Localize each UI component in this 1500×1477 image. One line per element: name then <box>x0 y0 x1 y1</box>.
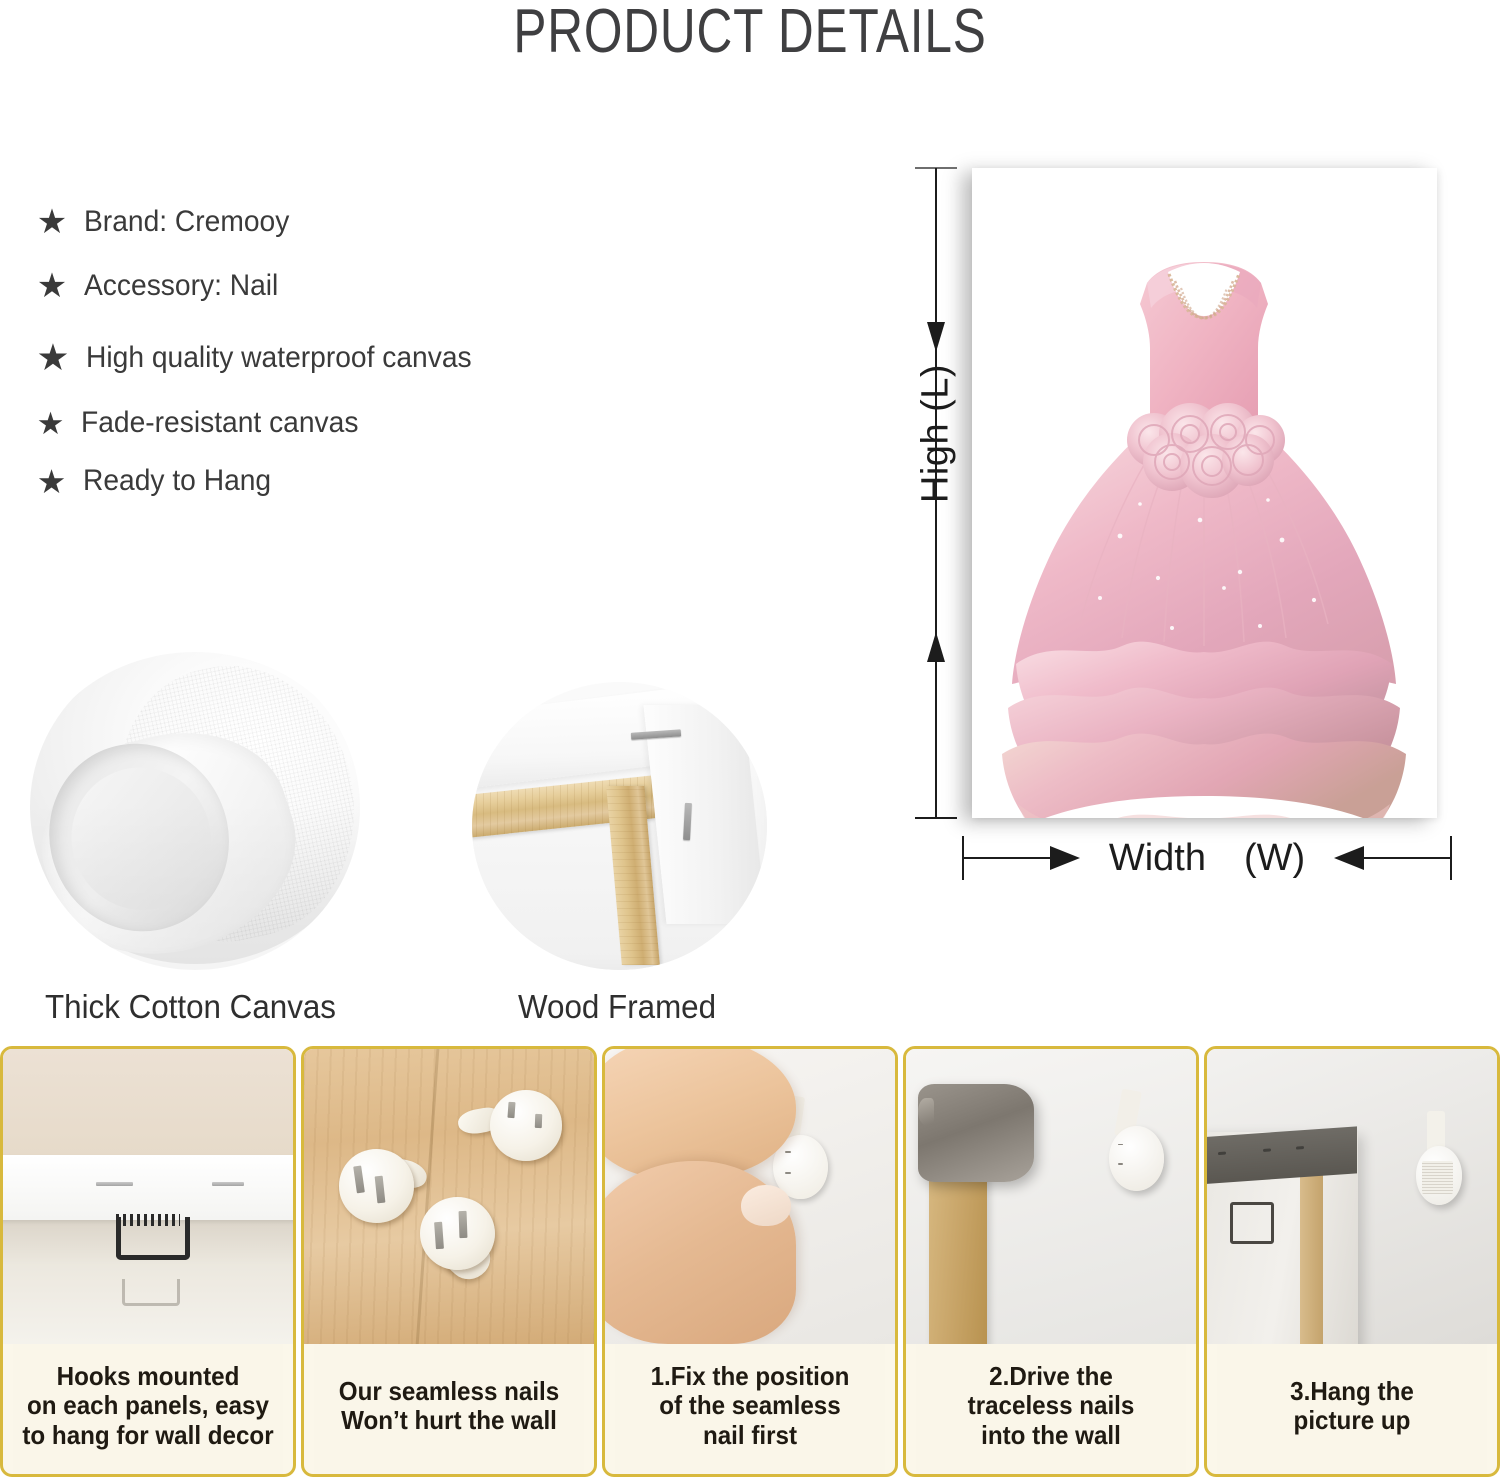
pink-tutu-dress-illustration <box>972 168 1437 818</box>
star-icon: ★ <box>34 339 72 376</box>
page-title: PRODUCT DETAILS <box>150 0 1350 67</box>
list-item: ★ Accessory: Nail <box>34 269 654 303</box>
canvas-detail-photo <box>30 645 360 970</box>
step-panel: 1.Fix the position of the seamless nail … <box>602 1046 898 1477</box>
star-icon: ★ <box>34 408 67 439</box>
step-caption: Our seamless nails Won’t hurt the wall <box>314 1344 584 1474</box>
position-nail-photo <box>605 1049 895 1344</box>
step-caption: 3.Hang the picture up <box>1217 1344 1487 1474</box>
step-panel: 2.Drive the traceless nails into the wal… <box>903 1046 1199 1477</box>
hanging-instruction-strip: Hooks mounted on each panels, easy to ha… <box>0 1046 1500 1477</box>
wall-background <box>3 1049 293 1161</box>
list-item: ★ Brand: Cremooy <box>34 205 654 239</box>
dimension-tick-right <box>1450 836 1452 880</box>
canvas-roll-shadow <box>30 801 360 970</box>
step-panel: Our seamless nails Won’t hurt the wall <box>301 1046 597 1477</box>
canvas-detail-caption: Thick Cotton Canvas <box>45 988 336 1026</box>
feature-label: High quality waterproof canvas <box>86 341 472 375</box>
seamless-nail-hook-icon <box>1109 1126 1164 1191</box>
frame-detail-photo <box>472 682 767 970</box>
artwork-dress <box>972 168 1437 818</box>
hammer-head-icon <box>918 1084 1034 1181</box>
feature-list: ★ Brand: Cremooy ★ Accessory: Nail ★ Hig… <box>34 205 654 518</box>
seamless-nails-photo <box>304 1049 594 1344</box>
hanging-loop-icon <box>1230 1202 1274 1243</box>
hook-on-canvas-back-photo <box>3 1049 293 1344</box>
seamless-nail-hook-icon <box>490 1090 563 1161</box>
seamless-nail-hook-icon <box>420 1197 495 1271</box>
frame-detail-caption: Wood Framed <box>518 988 716 1026</box>
hammer-handle <box>929 1170 987 1344</box>
star-icon: ★ <box>34 205 70 239</box>
arrow-up-icon <box>927 632 945 662</box>
hook-shadow <box>122 1279 180 1306</box>
rolled-canvas-image <box>30 645 360 970</box>
step-panel: Hooks mounted on each panels, easy to ha… <box>0 1046 296 1477</box>
list-item: ★ Fade-resistant canvas <box>34 406 654 440</box>
list-item: ★ High quality waterproof canvas <box>34 339 654 376</box>
step-caption: 2.Drive the traceless nails into the wal… <box>916 1344 1186 1474</box>
hook-base-plate <box>1422 1161 1454 1193</box>
feature-label: Ready to Hang <box>83 464 271 498</box>
feature-label: Accessory: Nail <box>84 269 278 303</box>
step-caption: 1.Fix the position of the seamless nail … <box>615 1344 885 1474</box>
height-dimension-label: High (L) <box>915 344 958 524</box>
wood-frame-corner-image <box>472 682 767 970</box>
star-icon: ★ <box>34 269 70 303</box>
arrow-left-icon <box>1334 846 1364 870</box>
wood-stretcher-bar <box>1300 1173 1323 1344</box>
star-icon: ★ <box>34 465 69 498</box>
fingernail <box>741 1185 790 1226</box>
feature-label: Brand: Cremooy <box>84 205 289 239</box>
dimension-tick-bottom <box>915 817 957 819</box>
dimension-line-right <box>1362 857 1450 859</box>
staple-icon <box>212 1182 244 1187</box>
step-panel: 3.Hang the picture up <box>1204 1046 1500 1477</box>
staple-icon <box>96 1182 134 1187</box>
dimension-row-horizontal: Width (W) <box>962 830 1452 890</box>
seamless-nail-hook-icon <box>339 1149 414 1223</box>
hammer-peen <box>918 1098 934 1125</box>
feature-label: Fade-resistant canvas <box>81 406 358 440</box>
canvas-mockup-with-dimensions: High (L) Width (W) <box>890 140 1490 880</box>
list-item: ★ Ready to Hang <box>34 464 654 498</box>
hang-picture-photo <box>1207 1049 1497 1344</box>
step-caption: Hooks mounted on each panels, easy to ha… <box>13 1344 283 1474</box>
sawtooth-hook-icon <box>116 1217 190 1260</box>
hammer-nail-photo <box>906 1049 1196 1344</box>
canvas-artwork-panel <box>972 168 1437 818</box>
canvas-top-edge <box>3 1155 293 1220</box>
